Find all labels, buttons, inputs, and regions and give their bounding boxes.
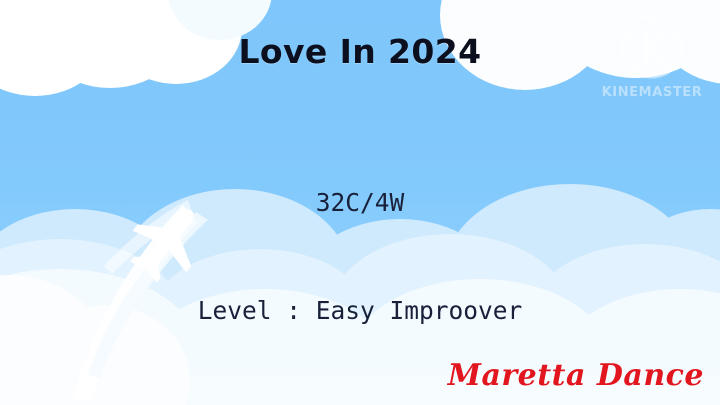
dance-title-card: Love In 2024 32C/4W Level : Easy Improov… bbox=[0, 0, 720, 405]
detail-line-choreo: Choreo : W. L. D (KOR) - November 2024 bbox=[0, 401, 720, 405]
detail-line-level: Level : Easy Improover bbox=[0, 293, 720, 329]
page-title: Love In 2024 bbox=[0, 32, 720, 71]
detail-line-counts: 32C/4W bbox=[0, 185, 720, 221]
signature-maretta-dance: Maretta Dance bbox=[448, 358, 704, 393]
